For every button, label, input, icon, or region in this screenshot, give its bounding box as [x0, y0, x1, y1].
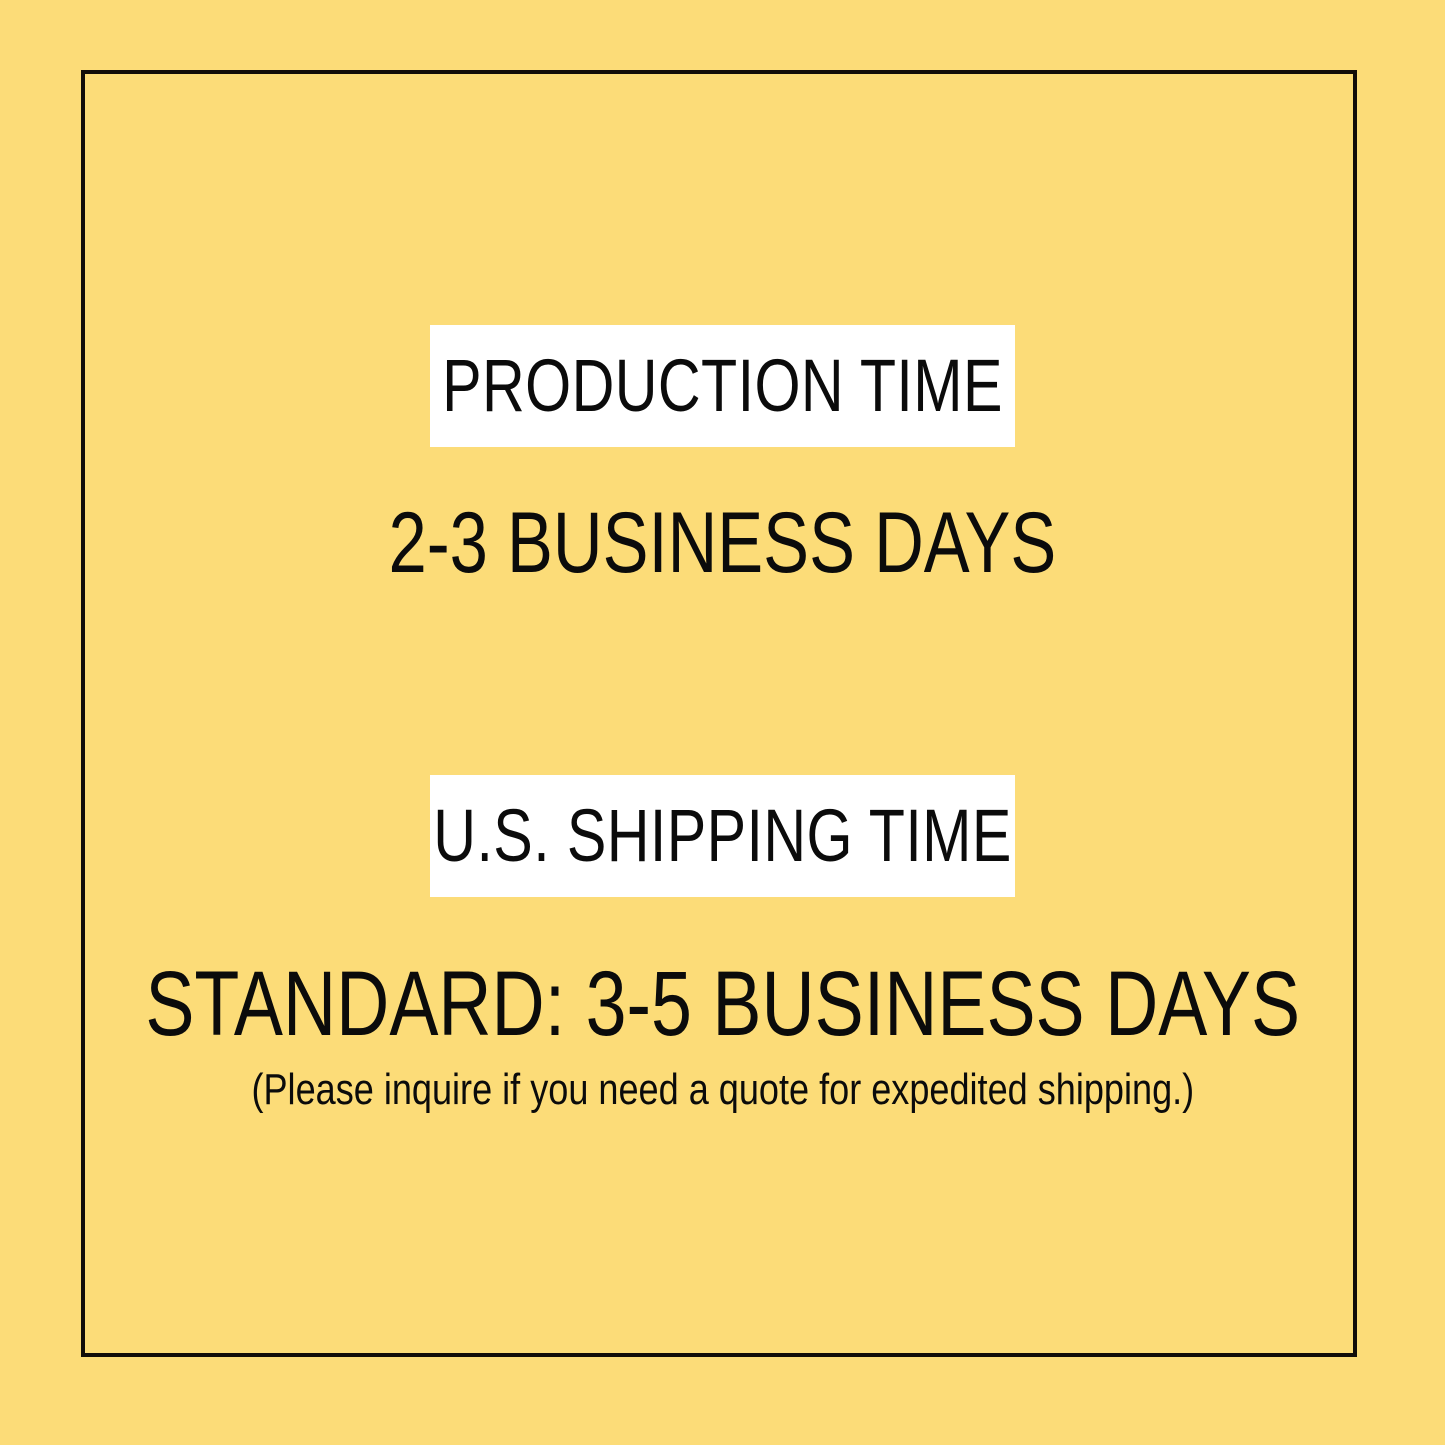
shipping-time-label: U.S. SHIPPING TIME	[433, 799, 1011, 873]
production-time-label: PRODUCTION TIME	[442, 349, 1003, 423]
production-time-value: 2-3 BUSINESS DAYS	[389, 500, 1057, 586]
shipping-time-value: STANDARD: 3-5 BUSINESS DAYS	[145, 958, 1300, 1050]
production-time-label-plate: PRODUCTION TIME	[430, 325, 1015, 447]
expedited-shipping-note: (Please inquire if you need a quote for …	[251, 1068, 1194, 1112]
shipping-time-label-plate: U.S. SHIPPING TIME	[430, 775, 1015, 897]
shipping-time-value-row: STANDARD: 3-5 BUSINESS DAYS	[0, 958, 1445, 1050]
expedited-shipping-note-row: (Please inquire if you need a quote for …	[0, 1068, 1445, 1112]
poster-border-frame	[81, 70, 1357, 1357]
poster-canvas: PRODUCTION TIME 2-3 BUSINESS DAYS U.S. S…	[0, 0, 1445, 1445]
production-time-value-row: 2-3 BUSINESS DAYS	[0, 500, 1445, 586]
